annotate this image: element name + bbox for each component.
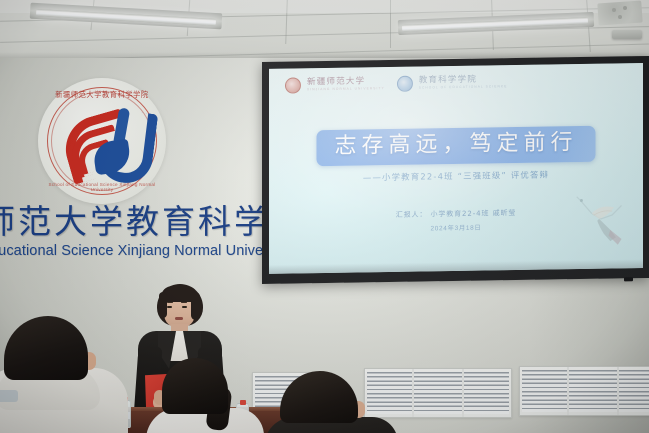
- projection-screen-surface: 新疆师范大学 XINJIANG NORMAL UNIVERSITY 教育科学学院…: [269, 63, 643, 274]
- audience-right-hair: [280, 371, 358, 423]
- audience-right: [272, 371, 388, 433]
- audience-left-hair: [4, 316, 88, 380]
- audience-left: [0, 316, 122, 433]
- audience-left-zipper: [0, 390, 18, 402]
- ceiling-air-diffuser: [597, 0, 642, 25]
- university-emblem: 新疆师范大学教育科学学院 School of Educational Scien…: [38, 78, 166, 204]
- ceiling: [0, 0, 649, 62]
- screen-pull-tab: [624, 277, 633, 281]
- emblem-english-text: School of Educational Science Xinjiang N…: [38, 182, 166, 192]
- projection-screen-frame: 新疆师范大学 XINJIANG NORMAL UNIVERSITY 教育科学学院…: [262, 56, 649, 284]
- presentation-slide: 新疆师范大学 XINJIANG NORMAL UNIVERSITY 教育科学学院…: [269, 63, 643, 274]
- speaker-hair-left: [159, 292, 167, 318]
- projector-mount: [612, 30, 642, 39]
- audience-center: [152, 358, 258, 433]
- emblem-chinese-text: 新疆师范大学教育科学学院: [38, 90, 166, 100]
- audience-center-hair: [162, 358, 228, 414]
- screen-glare: [269, 63, 643, 274]
- speaker-hair-right: [191, 292, 200, 320]
- photo-scene: 新疆师范大学教育科学学院 School of Educational Scien…: [0, 0, 649, 433]
- speaker-mouth: [175, 317, 183, 320]
- wall-sign-english: ducational Science Xinjiang Normal Unive…: [0, 243, 290, 259]
- wall-vent-center: [519, 366, 649, 416]
